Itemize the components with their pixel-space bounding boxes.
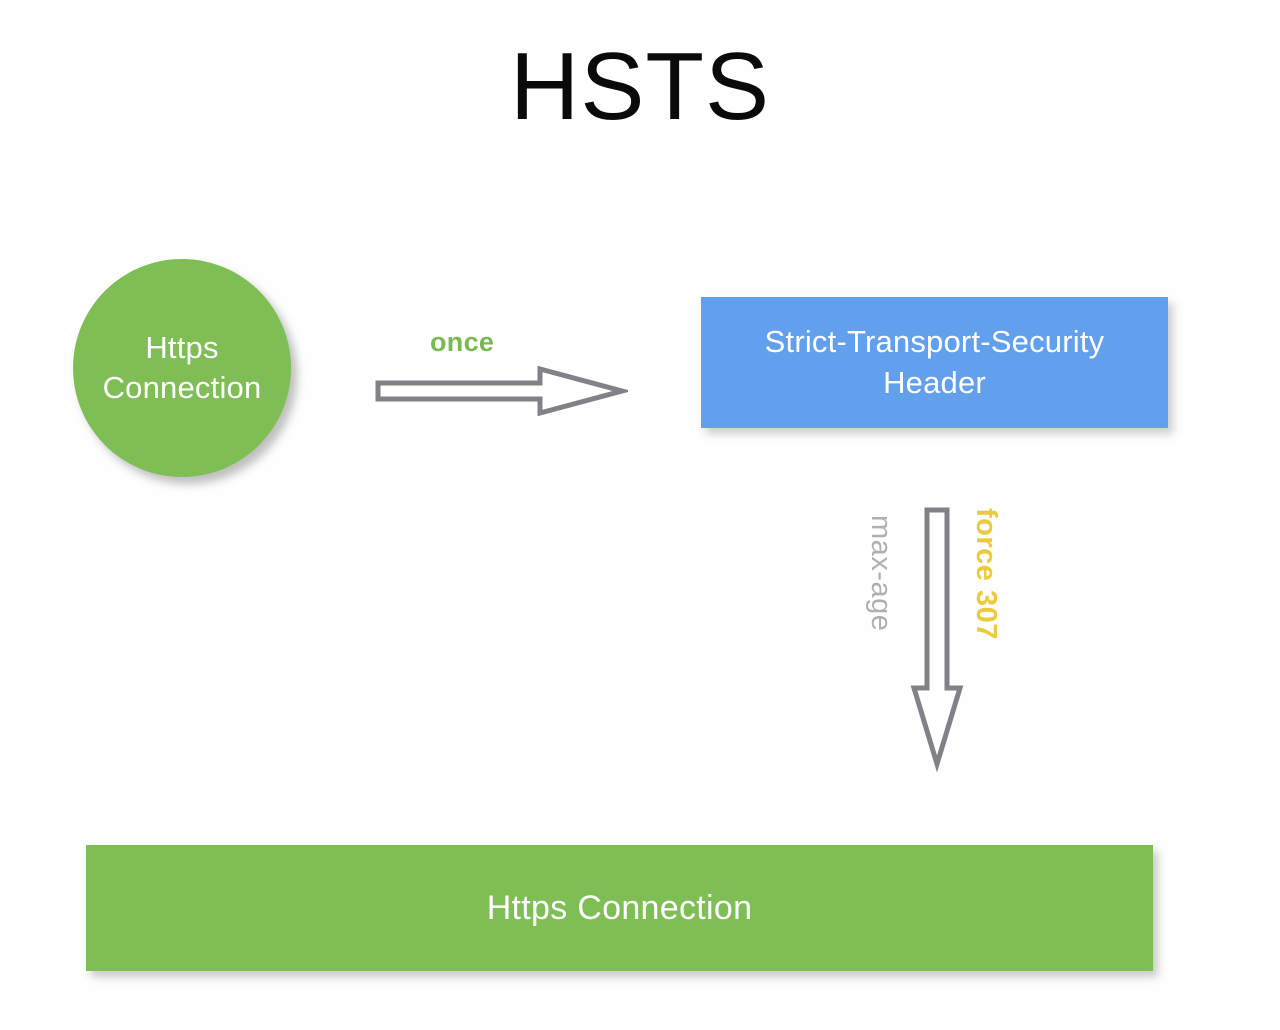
arrow-right-icon xyxy=(372,366,628,416)
node-https-connection-circle-label: Https Connection xyxy=(103,328,262,407)
arrow-down-icon xyxy=(900,500,975,775)
node-https-connection-bar: Https Connection xyxy=(86,845,1153,971)
node-sts-header-box: Strict-Transport-Security Header xyxy=(701,297,1168,428)
slide-canvas: HSTS Https Connection once Strict-Transp… xyxy=(0,0,1280,1030)
node-https-connection-bar-label: Https Connection xyxy=(487,889,753,928)
connector-label-once: once xyxy=(430,327,494,358)
node-https-connection-circle: Https Connection xyxy=(73,259,291,477)
node-sts-header-box-label: Strict-Transport-Security Header xyxy=(753,322,1117,404)
page-title: HSTS xyxy=(0,34,1280,140)
connector-label-max-age: max-age xyxy=(866,515,895,631)
connector-label-force-307: force 307 xyxy=(971,508,1000,640)
